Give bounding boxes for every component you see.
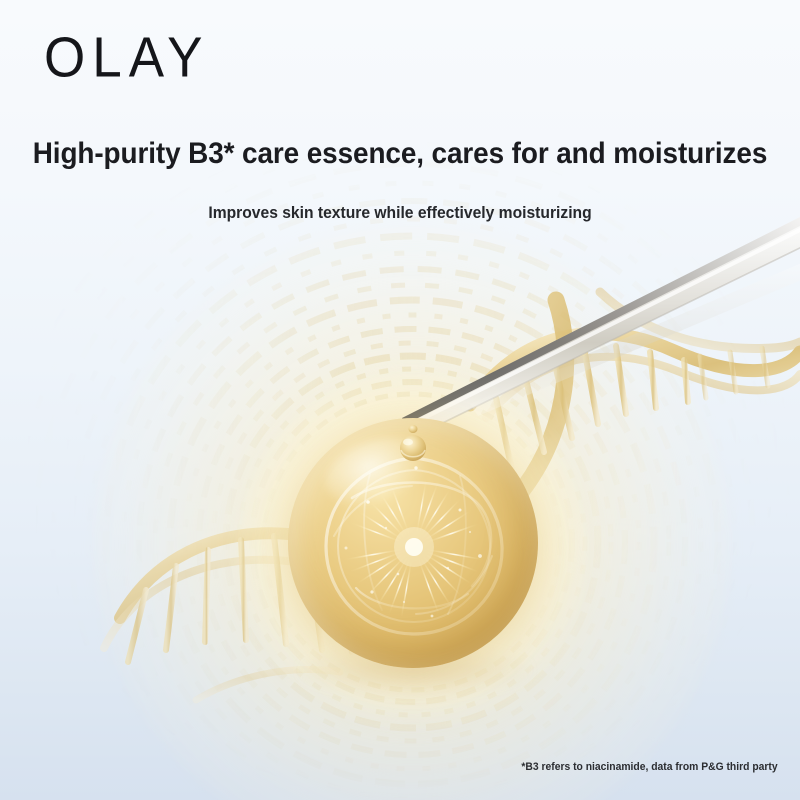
- olay-logo: OLAY: [44, 30, 209, 86]
- legal-footnote: *B3 refers to niacinamide, data from P&G…: [522, 761, 778, 773]
- golden-serum-droplet-sphere: [288, 418, 538, 668]
- sphere-energy-swirl: [312, 444, 516, 648]
- falling-serum-droplet: [392, 424, 434, 468]
- ambient-glow-outer: [92, 222, 732, 800]
- sphere-contact-shadow: [300, 648, 530, 692]
- olay-product-banner: OLAY High-purity B3* care essence, cares…: [0, 0, 800, 800]
- page-title: High-purity B3* care essence, cares for …: [28, 137, 772, 171]
- sphere-body: [288, 418, 538, 668]
- page-subtitle: Improves skin texture while effectively …: [32, 203, 768, 223]
- sphere-halo: [228, 363, 598, 733]
- sphere-core-rays: [321, 454, 507, 640]
- radial-dashed-arc-burst: [0, 130, 800, 800]
- sphere-specular-highlight: [317, 425, 435, 516]
- golden-dna-helix: [0, 0, 800, 800]
- sphere-rim-light: [288, 418, 538, 668]
- ambient-glow-inner: [232, 362, 592, 722]
- metal-tweezers: [0, 0, 800, 800]
